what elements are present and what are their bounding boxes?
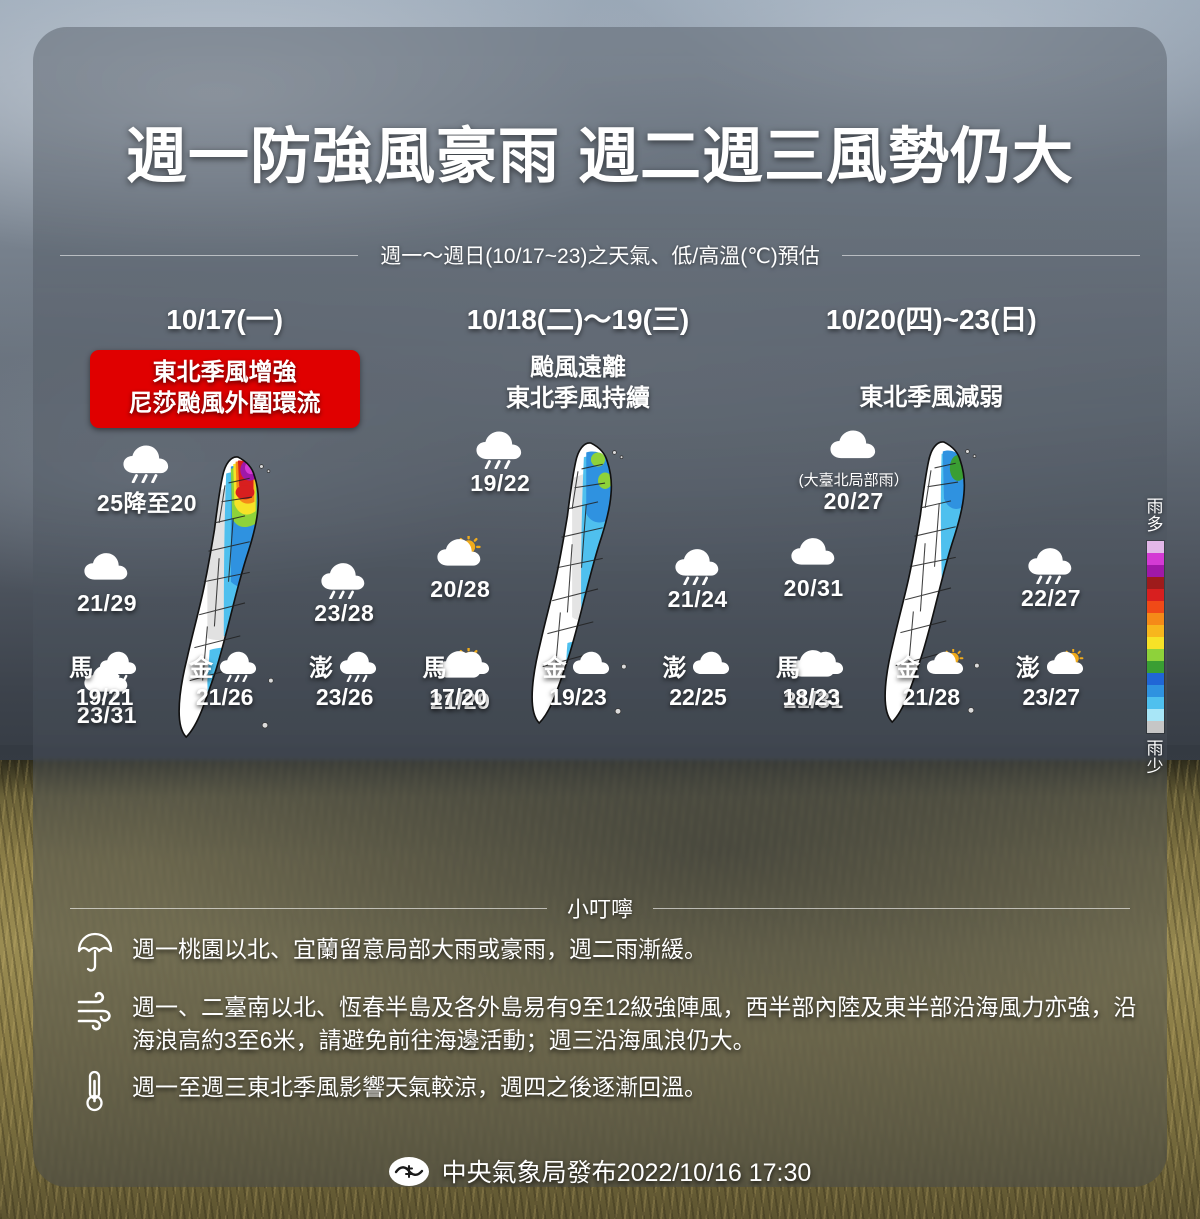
thermometer-icon bbox=[75, 1069, 115, 1113]
column-description: 颱風遠離東北季風持續 bbox=[401, 352, 754, 414]
island-forecast: 馬19/21 bbox=[51, 648, 159, 711]
legend-low-label: 雨少 bbox=[1146, 740, 1164, 776]
subtitle: 週一～週日(10/17~23)之天氣、低/高溫(℃)預估 bbox=[380, 240, 820, 270]
tip-item-1: 週一桃園以北、宜蘭留意局部大雨或豪雨，週二雨漸緩。 bbox=[72, 930, 1150, 976]
tips-divider-right bbox=[653, 908, 1130, 909]
island-forecast: 澎23/26 bbox=[291, 648, 399, 711]
island-temp: 18/23 bbox=[757, 684, 865, 711]
tip-item-3: 週一至週三東北季風影響天氣較涼，週四之後逐漸回溫。 bbox=[72, 1068, 1150, 1114]
tip-icon-wrap bbox=[72, 930, 118, 976]
island-head: 金 bbox=[524, 648, 632, 682]
temp-label-north: (大臺北局部雨）20/27 bbox=[769, 427, 939, 515]
island-forecast: 馬17/20 bbox=[404, 648, 512, 711]
tip-text: 週一至週三東北季風影響天氣較涼，週四之後逐漸回溫。 bbox=[132, 1068, 707, 1104]
rain-cloud-icon bbox=[121, 442, 173, 483]
subtitle-row: 週一～週日(10/17~23)之天氣、低/高溫(℃)預估 bbox=[60, 240, 1140, 270]
temp-label-east: 23/28 bbox=[279, 560, 409, 627]
sun-cloud-icon bbox=[925, 649, 967, 682]
cloud-icon bbox=[789, 535, 839, 574]
tips-divider-left bbox=[70, 908, 547, 909]
column-date: 10/17(一) bbox=[48, 298, 401, 338]
cloud-icon bbox=[571, 649, 613, 682]
island-forecast: 馬18/23 bbox=[757, 648, 865, 711]
legend-swatch-5 bbox=[1147, 601, 1164, 613]
outlying-islands-row: 馬19/21金21/26澎23/26 bbox=[48, 648, 401, 711]
sun-cloud-icon bbox=[435, 536, 485, 575]
rain-cloud-icon bbox=[338, 649, 380, 682]
island-temp: 21/26 bbox=[171, 684, 279, 711]
island-forecast: 澎23/27 bbox=[997, 648, 1105, 711]
island-temp: 17/20 bbox=[404, 684, 512, 711]
umbrella-icon bbox=[75, 931, 115, 975]
tip-icon-wrap bbox=[72, 988, 118, 1034]
tip-text: 週一、二臺南以北、恆春半島及各外島易有9至12級強陣風，西半部內陸及東半部沿海風… bbox=[132, 988, 1150, 1056]
island-head: 馬 bbox=[51, 648, 159, 682]
temp-label-west: 20/28 bbox=[395, 536, 525, 603]
legend-swatch-4 bbox=[1147, 589, 1164, 601]
island-head: 澎 bbox=[291, 648, 399, 682]
temp-label-north: 19/22 bbox=[415, 428, 585, 497]
column-alert-badge: 東北季風增強尼莎颱風外圍環流 bbox=[90, 350, 360, 428]
forecast-column-3: 10/20(四)~23(日)東北季風減弱(大臺北局部雨）20/2720/3122… bbox=[755, 296, 1108, 876]
island-head: 金 bbox=[877, 648, 985, 682]
legend-swatch-7 bbox=[1147, 625, 1164, 637]
temp-value: 22/27 bbox=[986, 585, 1116, 612]
island-head: 澎 bbox=[644, 648, 752, 682]
island-head: 馬 bbox=[757, 648, 865, 682]
temp-value: 20/31 bbox=[749, 575, 879, 602]
temp-label-east: 21/24 bbox=[633, 546, 763, 613]
legend-swatch-9 bbox=[1147, 649, 1164, 661]
footer: 中央氣象局發布2022/10/16 17:30 bbox=[0, 1153, 1200, 1189]
tips-list: 週一桃園以北、宜蘭留意局部大雨或豪雨，週二雨漸緩。週一、二臺南以北、恆春半島及各… bbox=[72, 930, 1150, 1126]
legend-color-bar bbox=[1146, 540, 1165, 734]
island-name: 金 bbox=[896, 648, 920, 683]
island-forecast: 金21/26 bbox=[171, 648, 279, 711]
outlying-islands-row: 馬17/20金19/23澎22/25 bbox=[401, 648, 754, 711]
island-head: 金 bbox=[171, 648, 279, 682]
column-date: 10/18(二)～19(三) bbox=[401, 298, 754, 338]
temp-label-east: 22/27 bbox=[986, 545, 1116, 612]
rain-cloud-icon bbox=[1026, 545, 1076, 584]
outlying-islands-row: 馬18/23金21/28澎23/27 bbox=[755, 648, 1108, 711]
forecast-column-2: 10/18(二)～19(三)颱風遠離東北季風持續19/2220/2821/242… bbox=[401, 296, 754, 876]
forecast-columns: 10/17(一)東北季風增強尼莎颱風外圍環流25降至2021/2923/2823… bbox=[48, 296, 1108, 876]
tips-heading-row: 小叮嚀 bbox=[70, 892, 1130, 924]
island-temp: 23/26 bbox=[291, 684, 399, 711]
tip-text: 週一桃園以北、宜蘭留意局部大雨或豪雨，週二雨漸緩。 bbox=[132, 930, 707, 966]
divider-right bbox=[842, 255, 1140, 256]
temp-value: 20/28 bbox=[395, 576, 525, 603]
island-name: 馬 bbox=[69, 648, 93, 683]
rain-cloud-icon bbox=[673, 546, 723, 585]
temp-value: 21/24 bbox=[633, 586, 763, 613]
temp-value: 21/29 bbox=[42, 590, 172, 617]
island-temp: 23/27 bbox=[997, 684, 1105, 711]
rain-cloud-icon bbox=[98, 649, 140, 682]
cwb-logo-icon bbox=[389, 1157, 429, 1186]
legend-swatch-1 bbox=[1147, 553, 1164, 565]
island-temp: 22/25 bbox=[644, 684, 752, 711]
legend-swatch-15 bbox=[1147, 721, 1164, 733]
page-title: 週一防強風豪雨 週二週三風勢仍大 bbox=[0, 106, 1200, 195]
footer-text: 中央氣象局發布2022/10/16 17:30 bbox=[442, 1153, 812, 1189]
cloud-icon bbox=[451, 649, 493, 682]
temp-label-north: 25降至20 bbox=[62, 442, 232, 518]
cloud-icon bbox=[691, 649, 733, 682]
sun-cloud-icon bbox=[1045, 649, 1087, 682]
island-temp: 19/23 bbox=[524, 684, 632, 711]
legend-high-label: 雨多 bbox=[1146, 498, 1164, 534]
island-name: 馬 bbox=[776, 648, 800, 683]
island-name: 澎 bbox=[662, 648, 686, 683]
island-head: 馬 bbox=[404, 648, 512, 682]
legend-swatch-11 bbox=[1147, 673, 1164, 685]
legend-swatch-13 bbox=[1147, 697, 1164, 709]
cloud-icon bbox=[805, 649, 847, 682]
island-head: 澎 bbox=[997, 648, 1105, 682]
tip-item-2: 週一、二臺南以北、恆春半島及各外島易有9至12級強陣風，西半部內陸及東半部沿海風… bbox=[72, 988, 1150, 1056]
rain-cloud-icon bbox=[218, 649, 260, 682]
island-temp: 19/21 bbox=[51, 684, 159, 711]
temp-label-west: 21/29 bbox=[42, 550, 172, 617]
island-temp: 21/28 bbox=[877, 684, 985, 711]
island-forecast: 金21/28 bbox=[877, 648, 985, 711]
map-area: 25降至2021/2923/2823/31 bbox=[48, 442, 401, 772]
legend-swatch-12 bbox=[1147, 685, 1164, 697]
wind-icon bbox=[75, 989, 115, 1033]
legend-swatch-8 bbox=[1147, 637, 1164, 649]
legend-swatch-10 bbox=[1147, 661, 1164, 673]
rain-cloud-icon bbox=[319, 560, 369, 599]
island-name: 澎 bbox=[1016, 648, 1040, 683]
cloud-icon bbox=[828, 427, 880, 468]
column-description: 東北季風減弱 bbox=[755, 382, 1108, 413]
island-name: 馬 bbox=[422, 648, 446, 683]
cloud-icon bbox=[82, 550, 132, 589]
forecast-column-1: 10/17(一)東北季風增強尼莎颱風外圍環流25降至2021/2923/2823… bbox=[48, 296, 401, 876]
legend-swatch-2 bbox=[1147, 565, 1164, 577]
island-forecast: 澎22/25 bbox=[644, 648, 752, 711]
temp-label-west: 20/31 bbox=[749, 535, 879, 602]
legend-swatch-0 bbox=[1147, 541, 1164, 553]
column-date: 10/20(四)~23(日) bbox=[755, 298, 1108, 338]
temp-value: 20/27 bbox=[769, 488, 939, 515]
island-name: 金 bbox=[542, 648, 566, 683]
tips-heading: 小叮嚀 bbox=[567, 892, 633, 924]
temp-value: 25降至20 bbox=[62, 484, 232, 518]
rain-cloud-icon bbox=[474, 428, 526, 469]
legend-swatch-3 bbox=[1147, 577, 1164, 589]
tip-icon-wrap bbox=[72, 1068, 118, 1114]
island-name: 澎 bbox=[309, 648, 333, 683]
temp-value: 23/28 bbox=[279, 600, 409, 627]
island-name: 金 bbox=[189, 648, 213, 683]
legend-swatch-6 bbox=[1147, 613, 1164, 625]
divider-left bbox=[60, 255, 358, 256]
temp-value: 19/22 bbox=[415, 470, 585, 497]
rain-legend: 雨多 雨少 bbox=[1124, 498, 1186, 775]
island-forecast: 金19/23 bbox=[524, 648, 632, 711]
legend-swatch-14 bbox=[1147, 709, 1164, 721]
